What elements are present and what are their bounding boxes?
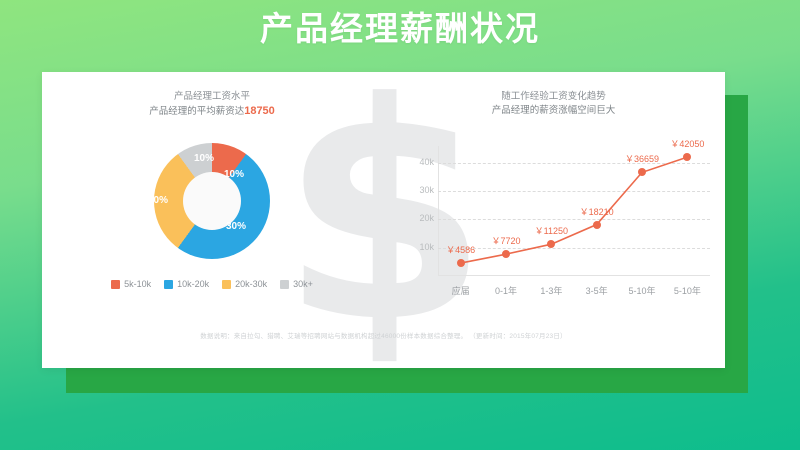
salary-distribution-panel: 产品经理工资水平 产品经理的平均薪资达18750 50% 30% 10% 10%… — [42, 90, 382, 289]
data-point[interactable] — [683, 153, 691, 161]
data-point-label: ￥7720 — [491, 234, 520, 247]
experience-trend-panel: 随工作经验工资变化趋势 产品经理的薪资涨幅空间巨大 10k20k30k40k￥4… — [382, 90, 725, 276]
donut-legend: 5k-10k10k-20k20k-30k30k+ — [42, 279, 382, 289]
data-point[interactable] — [457, 259, 465, 267]
x-axis-tick-label: 5-10年 — [628, 284, 655, 297]
legend-swatch-icon — [222, 280, 231, 289]
donut-legend-item[interactable]: 10k-20k — [164, 279, 209, 289]
data-point[interactable] — [638, 168, 646, 176]
data-source-note: 数据说明：来自拉勾、猎聘、艾瑞等招聘网站与数据机构超过46000份样本数据综合整… — [42, 330, 725, 340]
left-heading-line2: 产品经理的平均薪资达18750 — [42, 104, 382, 119]
legend-swatch-icon — [280, 280, 289, 289]
line-chart: 10k20k30k40k￥4586应届￥77200-1年￥112501-3年￥1… — [410, 146, 710, 276]
donut-legend-item[interactable]: 20k-30k — [222, 279, 267, 289]
right-panel-heading: 随工作经验工资变化趋势 产品经理的薪资涨幅空间巨大 — [382, 90, 725, 118]
left-heading-line1: 产品经理工资水平 — [42, 90, 382, 104]
x-axis-tick-label: 1-3年 — [540, 284, 562, 297]
legend-label: 10k-20k — [177, 279, 209, 289]
data-point[interactable] — [547, 240, 555, 248]
donut-chart: 50% 30% 10% 10% — [154, 143, 270, 259]
x-axis-tick-label: 应届 — [452, 284, 470, 297]
right-heading-line2: 产品经理的薪资涨幅空间巨大 — [382, 104, 725, 118]
data-point-label: ￥11250 — [535, 224, 568, 237]
left-panel-heading: 产品经理工资水平 产品经理的平均薪资达18750 — [42, 90, 382, 119]
x-axis-tick-label: 5-10年 — [674, 284, 701, 297]
x-axis-tick-label: 3-5年 — [586, 284, 608, 297]
legend-label: 20k-30k — [235, 279, 267, 289]
data-point-label: ￥42050 — [670, 137, 704, 150]
page-title: 产品经理薪酬状况 — [0, 2, 800, 50]
average-salary-value: 18750 — [244, 105, 275, 117]
data-point[interactable] — [593, 221, 601, 229]
donut-slice-label-10k-20k: 50% — [148, 195, 168, 206]
slide-root: 产品经理薪酬状况 $ 产品经理工资水平 产品经理的平均薪资达18750 50% … — [0, 0, 800, 450]
right-heading-line1: 随工作经验工资变化趋势 — [382, 90, 725, 104]
donut-slice-label-30k-plus: 10% — [194, 153, 214, 164]
donut-legend-item[interactable]: 30k+ — [280, 279, 313, 289]
legend-swatch-icon — [164, 280, 173, 289]
legend-label: 30k+ — [293, 279, 313, 289]
donut-slice-label-20k-30k: 30% — [226, 221, 246, 232]
data-point-label: ￥18210 — [580, 205, 614, 218]
data-point-label: ￥36659 — [625, 152, 659, 165]
data-point-label: ￥4586 — [446, 243, 475, 256]
data-point[interactable] — [502, 250, 510, 258]
line-series-path — [410, 146, 710, 276]
legend-label: 5k-10k — [124, 279, 151, 289]
donut-slice-label-5k-10k: 10% — [224, 169, 244, 180]
donut-legend-item[interactable]: 5k-10k — [111, 279, 151, 289]
content-card: $ 产品经理工资水平 产品经理的平均薪资达18750 50% 30% 10% 1… — [42, 72, 725, 368]
left-heading-line2-text: 产品经理的平均薪资达 — [149, 106, 244, 117]
x-axis-tick-label: 0-1年 — [495, 284, 517, 297]
legend-swatch-icon — [111, 280, 120, 289]
